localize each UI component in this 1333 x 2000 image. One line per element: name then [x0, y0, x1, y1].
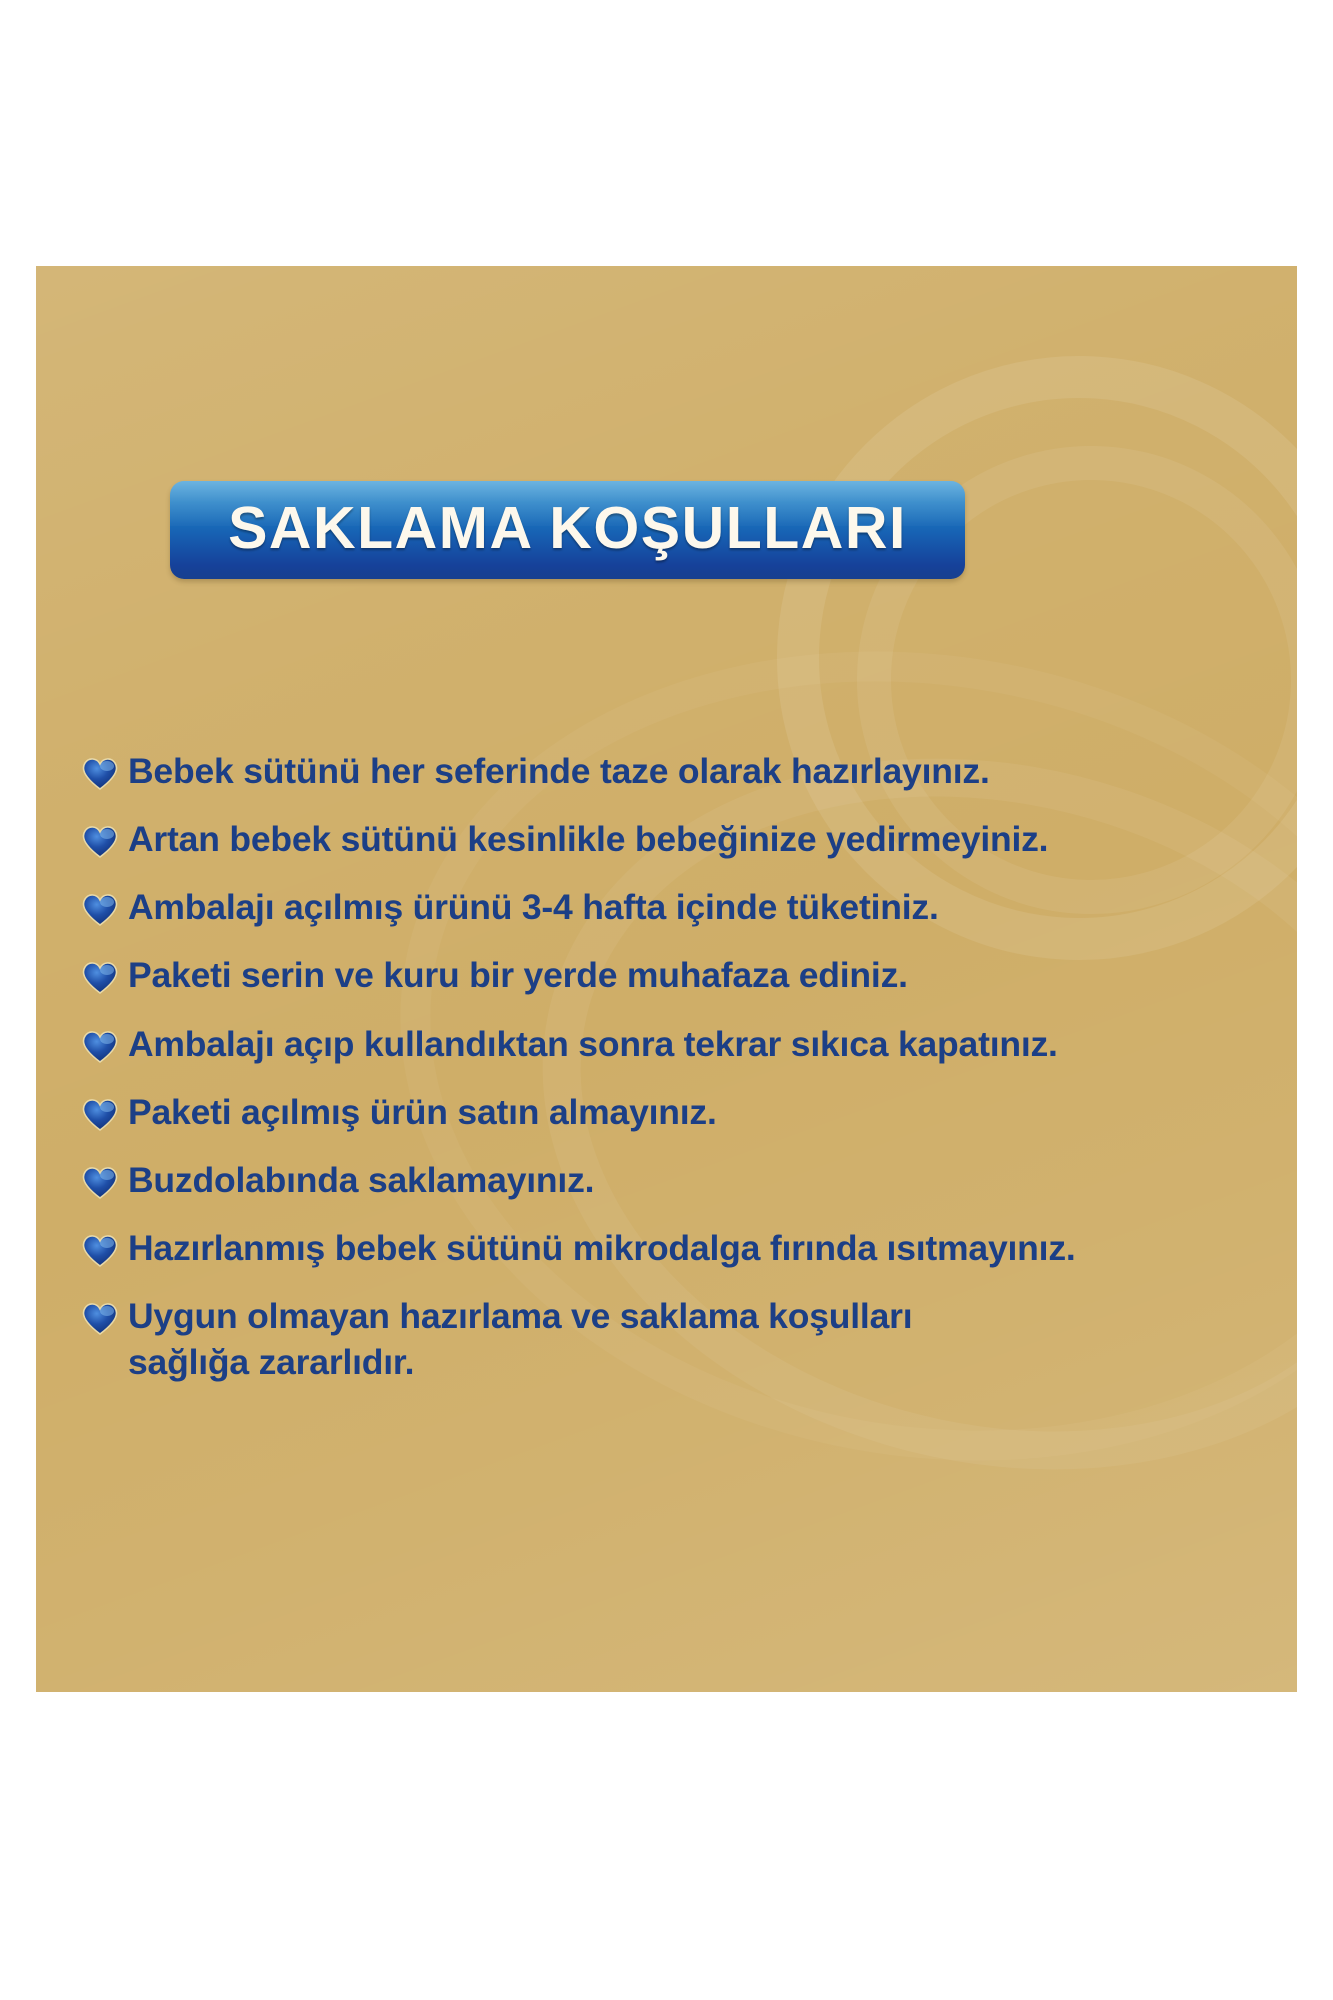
heart-icon	[80, 1232, 120, 1268]
list-item: Artan bebek sütünü kesinlikle bebeğinize…	[80, 816, 1080, 862]
list-item: Ambalajı açılmış ürünü 3-4 hafta içinde …	[80, 884, 1080, 930]
list-item-label: Paketi açılmış ürün satın almayınız.	[128, 1089, 717, 1135]
list-item-label: Hazırlanmış bebek sütünü mikrodalga fırı…	[128, 1225, 1076, 1271]
storage-conditions-list: Bebek sütünü her seferinde taze olarak h…	[80, 748, 1080, 1407]
page-title: SAKLAMA KOŞULLARI	[228, 499, 907, 561]
heart-icon	[80, 823, 120, 859]
product-info-panel: SAKLAMA KOŞULLARI Bebek sütünü her	[0, 0, 1333, 2000]
heart-icon	[80, 1300, 120, 1336]
list-item: Bebek sütünü her seferinde taze olarak h…	[80, 748, 1080, 794]
list-item-label: Artan bebek sütünü kesinlikle bebeğinize…	[128, 816, 1048, 862]
list-item: Paketi serin ve kuru bir yerde muhafaza …	[80, 952, 1080, 998]
list-item-label: Uygun olmayan hazırlama ve saklama koşul…	[128, 1293, 912, 1385]
heart-icon	[80, 1096, 120, 1132]
list-item: Ambalajı açıp kullandıktan sonra tekrar …	[80, 1021, 1080, 1067]
section-title-banner: SAKLAMA KOŞULLARI	[170, 481, 965, 579]
heart-icon	[80, 891, 120, 927]
list-item: Paketi açılmış ürün satın almayınız.	[80, 1089, 1080, 1135]
heart-icon	[80, 755, 120, 791]
list-item-label: Ambalajı açılmış ürünü 3-4 hafta içinde …	[128, 884, 939, 930]
heart-icon	[80, 1164, 120, 1200]
list-item-label: Ambalajı açıp kullandıktan sonra tekrar …	[128, 1021, 1058, 1067]
list-item-label: Paketi serin ve kuru bir yerde muhafaza …	[128, 952, 908, 998]
list-item: Buzdolabında saklamayınız.	[80, 1157, 1080, 1203]
heart-icon	[80, 959, 120, 995]
list-item-label: Bebek sütünü her seferinde taze olarak h…	[128, 748, 990, 794]
list-item: Uygun olmayan hazırlama ve saklama koşul…	[80, 1293, 1080, 1385]
list-item-label: Buzdolabında saklamayınız.	[128, 1157, 594, 1203]
heart-icon	[80, 1028, 120, 1064]
list-item: Hazırlanmış bebek sütünü mikrodalga fırı…	[80, 1225, 1080, 1271]
